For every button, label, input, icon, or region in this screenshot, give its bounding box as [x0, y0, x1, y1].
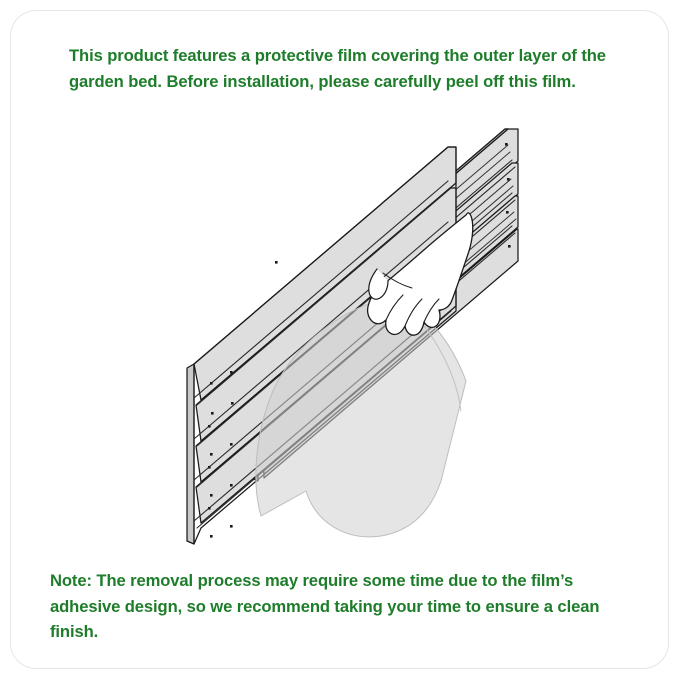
- intro-instruction-text: This product features a protective film …: [69, 43, 629, 94]
- instruction-card: This product features a protective film …: [10, 10, 669, 669]
- note-instruction-text: Note: The removal process may require so…: [50, 568, 635, 645]
- instruction-page: This product features a protective film …: [0, 0, 679, 679]
